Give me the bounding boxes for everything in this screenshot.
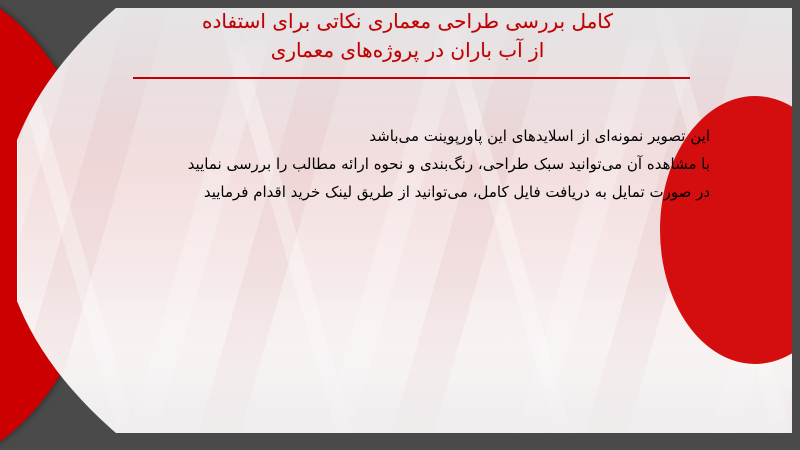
body-line-1: این تصویر نمونه‌ای از اسلایدهای این پاور… (120, 122, 710, 150)
slide-title: کامل بررسی طراحی معماری نکاتی برای استفا… (110, 7, 705, 65)
slide-body-text: این تصویر نمونه‌ای از اسلایدهای این پاور… (120, 122, 710, 206)
body-line-2: با مشاهده آن می‌توانید سبک طراحی، رنگ‌بن… (120, 150, 710, 178)
slide-content-panel (17, 8, 792, 433)
slide-title-line-1: کامل بررسی طراحی معماری نکاتی برای استفا… (110, 7, 705, 36)
title-underline-rule (133, 77, 690, 79)
background-diagonal-streaks (17, 8, 792, 433)
presentation-slide: کامل بررسی طراحی معماری نکاتی برای استفا… (0, 0, 800, 450)
slide-title-line-2: از آب باران در پروژه‌های معماری (110, 36, 705, 65)
body-line-3: در صورت تمایل به دریافت فایل کامل، می‌تو… (120, 178, 710, 206)
background-bottom-sheen (17, 283, 792, 433)
background-highlight-streaks (17, 8, 792, 433)
